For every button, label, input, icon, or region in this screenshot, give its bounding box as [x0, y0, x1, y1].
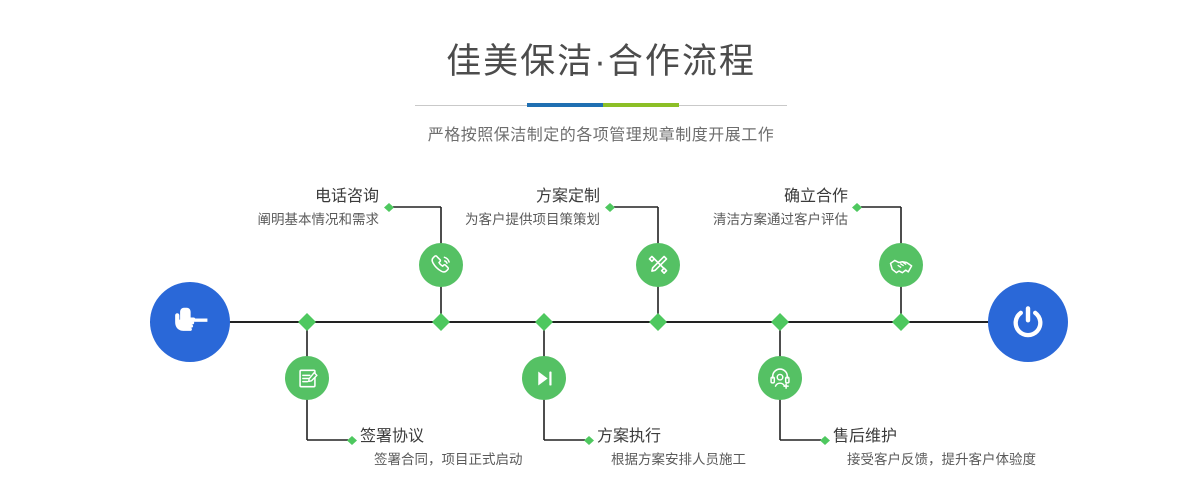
pencil-design-icon [645, 252, 671, 278]
step-label-establish-cooperation: 确立合作 清洁方案通过客户评估 [470, 188, 848, 228]
start-endpoint-node[interactable] [150, 282, 230, 362]
step-node-plan-customization[interactable] [636, 243, 680, 287]
step-title-5: 确立合作 [470, 188, 848, 206]
step-node-establish-cooperation[interactable] [879, 243, 923, 287]
step-desc-6: 接受客户反馈，提升客户体验度 [833, 452, 1193, 468]
flow-diagram-page: 佳美保洁·合作流程 严格按照保洁制定的各项管理规章制度开展工作 [0, 0, 1202, 502]
document-edit-icon [295, 366, 320, 391]
timeline-node-marker-2 [432, 313, 450, 331]
step-node-phone-consultation[interactable] [419, 243, 463, 287]
play-execute-icon [532, 366, 557, 391]
timeline-node-marker-3 [535, 313, 553, 331]
end-endpoint-node[interactable] [988, 282, 1068, 362]
step-node-sign-agreement[interactable] [285, 356, 329, 400]
phone-call-icon [428, 252, 454, 278]
branch-marker-step-2 [347, 436, 357, 445]
timeline-node-marker-5 [771, 313, 789, 331]
step-node-plan-execution[interactable] [522, 356, 566, 400]
connector-lines-layer [0, 0, 1202, 502]
step-label-after-sales-support: 售后维护 接受客户反馈，提升客户体验度 [833, 428, 1193, 468]
branch-marker-step-5 [852, 203, 862, 212]
handshake-icon [888, 252, 915, 279]
timeline-node-marker-4 [649, 313, 667, 331]
step-desc-5: 清洁方案通过客户评估 [470, 212, 848, 228]
step-node-after-sales-support[interactable] [758, 356, 802, 400]
step-title-6: 售后维护 [833, 428, 1193, 446]
timeline-node-marker-1 [298, 313, 316, 331]
power-icon [1005, 299, 1051, 345]
pointing-hand-icon [168, 300, 212, 344]
headset-support-icon [767, 365, 793, 391]
timeline-node-marker-6 [892, 313, 910, 331]
